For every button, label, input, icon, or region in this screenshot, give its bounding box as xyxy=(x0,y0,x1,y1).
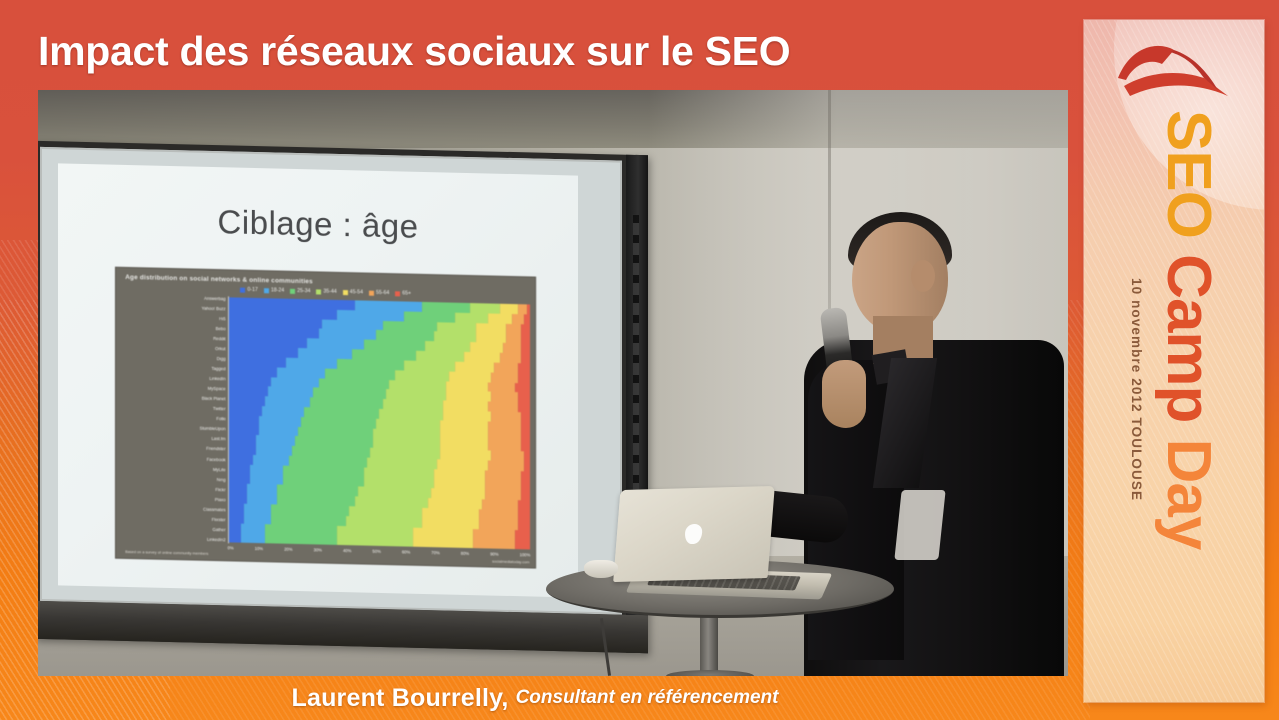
chart-bar-segment xyxy=(518,510,530,520)
chart-bar-segment xyxy=(521,481,530,491)
chart-row-label: LinkedIn xyxy=(121,375,225,382)
legend-swatch-icon xyxy=(369,290,374,295)
legend-item: 18-24 xyxy=(264,287,284,293)
chart-bar-segment xyxy=(229,445,256,455)
presenter-shirt xyxy=(894,490,945,560)
chart-bar-segment xyxy=(521,491,530,501)
chart-bar-segment xyxy=(527,304,530,314)
chart-axis-tick: 10% xyxy=(255,546,263,551)
vertical-brand-text: SEO Camp Day 10 novembre 2012 TOULOUSE xyxy=(1084,20,1264,702)
chart-bar-segment xyxy=(518,500,530,510)
brand-seo: SEO xyxy=(1154,110,1223,238)
chart-axis-tick: 0% xyxy=(228,546,234,551)
chart-bar-segment xyxy=(494,362,518,372)
chart-bar-segment xyxy=(521,324,530,334)
legend-swatch-icon xyxy=(240,287,245,292)
macbook-lid xyxy=(613,486,775,582)
brand-subtitle: 10 novembre 2012 TOULOUSE xyxy=(1129,278,1144,501)
chart-source: socialmediatoday.com xyxy=(492,560,529,565)
chart-bar-segment xyxy=(229,484,247,494)
chart-bar-segment xyxy=(524,452,530,462)
chart-row-label: Yahoo! Buzz xyxy=(121,305,225,312)
chart-axis-tick: 70% xyxy=(431,550,439,555)
chart-bar-segment xyxy=(241,533,265,543)
chart-body: AnswerbagYahoo! BuzzHi5BeboRedditOrkutDi… xyxy=(121,294,530,551)
brand-day: Day xyxy=(1154,422,1223,549)
chart-bar-segment xyxy=(521,471,530,481)
chart-row-label: Orkut xyxy=(121,345,225,352)
chart-bar-segment xyxy=(229,523,241,533)
legend-label: 55-64 xyxy=(376,290,389,296)
presenter-name: Laurent Bourrelly, xyxy=(292,684,509,713)
chart-row-label: Fotki xyxy=(121,415,225,422)
legend-item: 65+ xyxy=(395,290,411,296)
legend-item: 0-17 xyxy=(240,287,257,293)
chart-bar-segment xyxy=(337,535,412,547)
chart-bar-segment xyxy=(491,372,518,382)
legend-label: 18-24 xyxy=(271,287,284,293)
chart-bar-segment xyxy=(506,333,521,343)
chart-row-label: Facebook xyxy=(121,455,225,462)
chart-bar-segment xyxy=(500,304,518,314)
chart-bar-segment xyxy=(518,392,530,402)
chart-row-label: Black Planet xyxy=(121,395,225,402)
chart-bar-segment xyxy=(473,539,515,550)
mouse-device xyxy=(584,560,618,578)
chart-row-label: LinkedIn2 xyxy=(121,536,225,543)
chart-bar-segment xyxy=(503,343,521,353)
chart-axis-tick: 40% xyxy=(343,548,351,553)
page-title: Impact des réseaux sociaux sur le SEO xyxy=(38,22,1068,80)
chart-row-label: Flickr xyxy=(121,485,225,492)
slide-stage: Impact des réseaux sociaux sur le SEO Ci… xyxy=(0,0,1279,720)
chart-bar-segment xyxy=(229,464,250,474)
chart-bar-segment xyxy=(229,513,244,523)
chart-row-label: Reddit xyxy=(121,335,225,342)
chart-row-label: Plaxo xyxy=(121,495,225,502)
chart-bar-segment xyxy=(265,534,337,546)
chart-bar-segment xyxy=(413,537,473,548)
brand-camp: Camp xyxy=(1154,238,1223,422)
legend-swatch-icon xyxy=(264,288,269,293)
chart-row-label: Flixster xyxy=(121,516,225,523)
chart-axis-tick: 60% xyxy=(402,550,410,555)
chart-bar-segment xyxy=(229,454,253,464)
chart-row-label: Bebo xyxy=(121,325,225,332)
chart-bar-segment xyxy=(521,422,530,432)
video-player-area[interactable]: Ciblage : âge Age distribution on social… xyxy=(38,90,1068,676)
chart-row-label: Hi5 xyxy=(121,315,225,322)
chart-bar-segment xyxy=(241,523,265,533)
chart-axis-spacer xyxy=(121,543,227,551)
presenter-hand-holding-mic xyxy=(822,360,866,428)
chart-bar-segment xyxy=(488,313,512,323)
presenter-role: Consultant en référencement xyxy=(516,687,779,709)
chart-bar-segment xyxy=(524,461,530,471)
chart-bar-segment xyxy=(229,533,241,543)
legend-item: 45-54 xyxy=(343,289,363,295)
chart-row-label: Answerbag xyxy=(121,295,225,302)
chart-axis-tick: 90% xyxy=(490,552,498,557)
chart-axis-tick: 20% xyxy=(284,547,292,552)
chart-bar-segment xyxy=(524,314,530,324)
chart-plot-area xyxy=(228,296,531,550)
chart-bar-segment xyxy=(491,392,518,402)
chart-category-labels: AnswerbagYahoo! BuzzHi5BeboRedditOrkutDi… xyxy=(121,294,227,544)
chart-row-label: Gather xyxy=(121,526,225,533)
projected-slide: Ciblage : âge Age distribution on social… xyxy=(58,163,578,597)
chart-bar-segment xyxy=(518,363,530,373)
projection-whiteboard: Ciblage : âge Age distribution on social… xyxy=(38,141,648,653)
chart-bar-segment xyxy=(244,514,271,524)
legend-item: 55-64 xyxy=(369,290,389,296)
legend-label: 0-17 xyxy=(247,287,257,293)
chart-bar-segment xyxy=(518,304,527,314)
chart-row-label: MyLife xyxy=(121,465,225,472)
slide-title: Ciblage : âge xyxy=(58,199,578,249)
chart-bar-segment xyxy=(521,343,530,353)
legend-item: 25-34 xyxy=(290,288,310,294)
apple-logo-icon xyxy=(684,524,703,544)
chart-bar-segment xyxy=(518,520,530,530)
legend-label: 65+ xyxy=(402,290,411,296)
chart-bar-segment xyxy=(229,435,256,445)
chart-row-label: Twitter xyxy=(121,405,225,412)
brand-title: SEO Camp Day xyxy=(1153,110,1224,549)
chart-bar-segment xyxy=(515,540,530,550)
legend-swatch-icon xyxy=(343,290,348,295)
legend-swatch-icon xyxy=(316,289,321,294)
chart-bar-segment xyxy=(521,432,530,442)
chart-bar-segment xyxy=(244,504,271,514)
chart-bar-segment xyxy=(518,373,530,383)
chart-row-label: Digg xyxy=(121,355,225,362)
chart-bar-segment xyxy=(500,353,521,363)
presenter-caption: Laurent Bourrelly, Consultant en référen… xyxy=(0,676,1070,720)
chart-bar-segment xyxy=(229,494,247,504)
seo-camp-day-logo-panel: SEO Camp Day 10 novembre 2012 TOULOUSE xyxy=(1084,20,1264,702)
legend-item: 35-44 xyxy=(316,288,336,294)
chart-bar-segment xyxy=(515,383,530,393)
chart-bar-segment xyxy=(229,503,244,513)
chart-row-label: StumbleUpon xyxy=(121,425,225,432)
chart-bar-segment xyxy=(488,382,515,392)
chart-row-label: Friendster xyxy=(121,445,225,452)
chart-axis-tick: 50% xyxy=(372,549,380,554)
legend-swatch-icon xyxy=(290,288,295,293)
chart-bar-segment xyxy=(512,314,524,324)
chart-bar-segment xyxy=(521,334,530,344)
chart-bar-segment xyxy=(229,474,250,484)
chart-bar-segment xyxy=(521,412,530,422)
chart-row-label: MySpace xyxy=(121,385,225,392)
chart-row-label: Tagged xyxy=(121,365,225,372)
presenter-ear xyxy=(911,260,935,292)
chart-bar-segment xyxy=(521,353,530,363)
chart-bar-segment xyxy=(515,530,530,540)
whiteboard-surface: Ciblage : âge Age distribution on social… xyxy=(40,147,622,615)
chart-bar-segment xyxy=(521,442,530,452)
legend-label: 25-34 xyxy=(297,288,310,294)
legend-label: 45-54 xyxy=(350,289,363,295)
chart-bar-segment xyxy=(506,324,521,334)
age-distribution-chart: Age distribution on social networks & on… xyxy=(115,267,536,569)
chart-row-label: Classmates xyxy=(121,505,225,512)
legend-label: 35-44 xyxy=(323,289,336,295)
chart-axis-tick: 80% xyxy=(461,551,469,556)
chart-axis-tick: 30% xyxy=(314,548,322,553)
chart-axis-tick: 100% xyxy=(520,552,531,557)
chart-row-label: Last.fm xyxy=(121,435,225,442)
chart-row-label: Ning xyxy=(121,475,225,482)
chart-bar-segment xyxy=(518,402,530,412)
legend-swatch-icon xyxy=(395,291,400,296)
